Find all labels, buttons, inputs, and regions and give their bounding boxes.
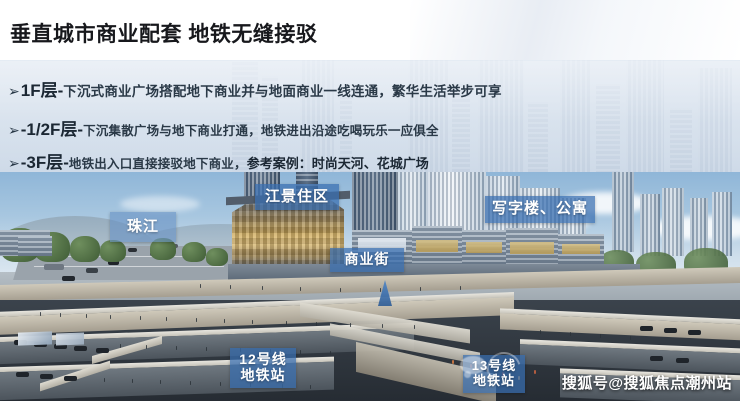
- label-jiangjing-residential: 江景住区: [255, 184, 339, 210]
- slide-root: 垂直城市商业配套 地铁无缝接驳 ➢ 1F层 - 下沉式商业广场搭配地下商业并与地…: [0, 0, 740, 401]
- label-commercial-street: 商业街: [330, 248, 404, 272]
- label-line12-station: 地铁站: [241, 368, 286, 384]
- label-jiangjing-text: 江景住区: [265, 189, 329, 206]
- bullet-2-head: -1/2F层: [21, 115, 78, 140]
- label-commercial-street-text: 商业街: [345, 252, 390, 268]
- bullet-1-body: 下沉式商业广场搭配地下商业并与地面商业一线连通，繁华生活举步可享: [63, 80, 501, 100]
- title-bar: 垂直城市商业配套 地铁无缝接驳: [0, 0, 740, 60]
- bullet-1-head: 1F层: [21, 76, 58, 101]
- bullet-item-2: ➢ -1/2F层 - 下沉集散广场与地下商业打通，地铁进出沿途吃喝玩乐一应俱全: [8, 115, 439, 140]
- sohu-bubble-icon: [460, 356, 486, 374]
- label-line12-number: 12号线: [239, 352, 287, 368]
- bullet-marker-icon: ➢: [8, 122, 20, 139]
- bullet-marker-icon: ➢: [8, 155, 20, 172]
- architectural-rendering: [0, 172, 740, 401]
- bullet-item-3: ➢ -3F层 - 地铁出入口直接接驳地下商业， 参考案例：时尚天河、花城广场: [8, 148, 429, 173]
- title-sheen-decoration: [410, 0, 740, 60]
- label-zhujiang-text: 珠江: [127, 219, 159, 236]
- bullet-3-head: -3F层: [21, 148, 64, 173]
- bullet-item-1: ➢ 1F层 - 下沉式商业广场搭配地下商业并与地面商业一线连通，繁华生活举步可享: [8, 76, 502, 101]
- bullet-3-body: 地铁出入口直接接驳地下商业，: [69, 153, 247, 172]
- bullet-marker-icon: ➢: [8, 83, 20, 100]
- label-zhujiang: 珠江: [110, 212, 176, 242]
- label-metro-line-12: 12号线 地铁站: [230, 348, 296, 388]
- bullet-2-body: 下沉集散广场与地下商业打通，地铁进出沿途吃喝玩乐一应俱全: [83, 120, 439, 139]
- label-office-apartment: 写字楼、公寓: [485, 196, 595, 223]
- mall-building: [232, 200, 344, 268]
- label-office-apartment-text: 写字楼、公寓: [492, 201, 588, 218]
- sohu-watermark: 搜狐号@搜狐焦点潮州站: [562, 372, 732, 393]
- page-title: 垂直城市商业配套 地铁无缝接驳: [10, 18, 317, 48]
- bullet-3-emphasis: 参考案例：时尚天河、花城广场: [247, 153, 429, 172]
